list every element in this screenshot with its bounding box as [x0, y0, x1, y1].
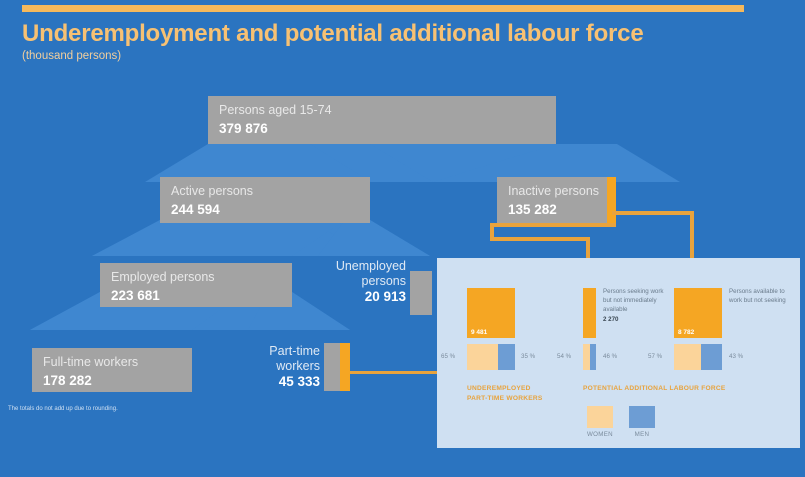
section-label-potential: POTENTIAL ADDITIONAL LABOUR FORCE — [583, 384, 783, 394]
node-label-line2: persons — [310, 274, 406, 289]
pct-women-available-to-work: 57 % — [648, 353, 662, 360]
part-time-workers-accent — [340, 343, 350, 391]
node-label-line2: workers — [236, 359, 320, 374]
node-label: Inactive persons — [508, 184, 596, 200]
node-value: 379 876 — [219, 120, 545, 138]
pct-women-seeking-work: 54 % — [557, 353, 571, 360]
segment-women — [674, 344, 701, 370]
node-value: 244 594 — [171, 201, 359, 219]
pct-men-seeking-work: 46 % — [603, 353, 617, 360]
legend-label-men: MEN — [629, 431, 655, 438]
node-value: 178 282 — [43, 372, 181, 390]
segment-men — [701, 344, 722, 370]
bar-caption-available-to-work: Persons available to work but not seekin… — [729, 288, 791, 306]
connector-available-horizontal — [612, 211, 694, 215]
legend-item-men: MEN — [629, 406, 655, 438]
gender-split-underemployed — [467, 344, 515, 370]
main-bar-underemployed: 9 481 — [467, 288, 515, 338]
node-employed-persons: Employed persons 223 681 — [100, 263, 292, 307]
node-part-time-workers: Part-time workers 45 333 — [236, 344, 320, 391]
node-persons-aged-15-74: Persons aged 15-74 379 876 — [208, 96, 556, 144]
legend-swatch-women-icon — [587, 406, 613, 428]
pct-men-underemployed: 35 % — [521, 353, 535, 360]
section-label-line1: UNDEREMPLOYED — [467, 384, 577, 394]
unemployed-persons-stub — [410, 271, 432, 315]
section-label-line2: PART-TIME WORKERS — [467, 394, 577, 404]
infographic-canvas: Underemployment and potential additional… — [0, 0, 805, 477]
node-full-time-workers: Full-time workers 178 282 — [32, 348, 192, 392]
gender-split-seeking-work — [583, 344, 596, 370]
node-label-line1: Part-time — [236, 344, 320, 359]
bar-value: 8 782 — [678, 329, 694, 336]
footnote: The totals do not add up due to rounding… — [8, 406, 118, 412]
pct-men-available-to-work: 43 % — [729, 353, 743, 360]
segment-men — [498, 344, 515, 370]
node-inactive-persons: Inactive persons 135 282 — [497, 177, 607, 223]
node-label: Active persons — [171, 184, 359, 200]
inactive-persons-accent — [607, 177, 616, 223]
node-label: Persons aged 15-74 — [219, 103, 545, 119]
bar-value: 9 481 — [471, 329, 487, 336]
node-value: 45 333 — [236, 374, 320, 391]
caption-text: Persons available to work but not seekin… — [729, 288, 786, 304]
node-value: 20 913 — [310, 289, 406, 306]
node-value: 135 282 — [508, 201, 596, 219]
legend-swatch-men-icon — [629, 406, 655, 428]
connector-seeking-horizontal — [490, 237, 590, 241]
caption-value: 2 270 — [603, 316, 665, 325]
node-label: Employed persons — [111, 270, 281, 286]
chart-legend: WOMEN MEN — [587, 406, 655, 438]
main-bar-seeking-work — [583, 288, 596, 338]
legend-label-women: WOMEN — [587, 431, 613, 438]
node-value: 223 681 — [111, 287, 281, 305]
segment-men — [590, 344, 596, 370]
node-label: Full-time workers — [43, 355, 181, 371]
segment-women — [583, 344, 590, 370]
caption-text: Persons seeking work but not immediately… — [603, 288, 664, 313]
connector-inactive-horizontal-left — [490, 223, 616, 227]
chart-panel: 9 481 65 % 35 % Persons seeking work but… — [437, 258, 800, 448]
gender-split-available-to-work — [674, 344, 722, 370]
section-label-underemployed: UNDEREMPLOYED PART-TIME WORKERS — [467, 384, 577, 404]
node-label-line1: Unemployed — [310, 259, 406, 274]
segment-women — [467, 344, 498, 370]
node-unemployed-persons: Unemployed persons 20 913 — [310, 259, 406, 306]
legend-item-women: WOMEN — [587, 406, 613, 438]
pct-women-underemployed: 65 % — [441, 353, 455, 360]
bar-caption-seeking-work: Persons seeking work but not immediately… — [603, 288, 665, 325]
node-active-persons: Active persons 244 594 — [160, 177, 370, 223]
main-bar-available-to-work: 8 782 — [674, 288, 722, 338]
